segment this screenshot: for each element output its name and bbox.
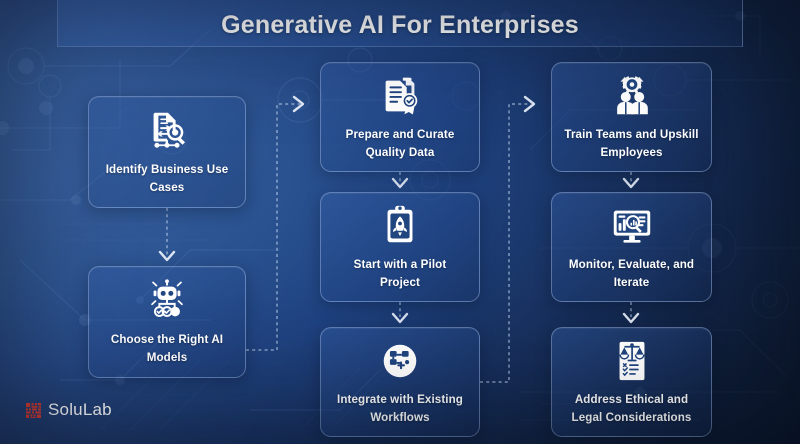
brand-logo[interactable]: SoluLab [26,400,112,420]
connector-c6-to-c7 [624,172,638,187]
flow-card-label: Choose the Right AI Models [89,331,245,367]
flow-card-prepare-and-curate-quality-data[interactable]: Prepare and Curate Quality Data [320,62,480,172]
page-title: Generative AI For Enterprises [0,11,800,40]
flow-card-label: Start with a Pilot Project [321,256,479,292]
monitor-analytics-magnifier-icon [609,203,655,249]
robot-ai-icon [144,278,190,324]
flow-card-start-with-a-pilot-project[interactable]: Start with a Pilot Project [320,192,480,302]
team-gear-uparrow-icon [609,73,655,119]
flow-card-train-teams-and-upskill-employees[interactable]: Train Teams and Upskill Employees [551,62,712,172]
connector-c5-to-c6 [480,97,534,382]
flow-card-label: Prepare and Curate Quality Data [321,126,479,162]
flow-card-integrate-with-existing-workflows[interactable]: Integrate with Existing Workflows [320,327,480,437]
scales-document-icon [609,338,655,384]
connector-c1-to-c2 [160,208,174,260]
flow-card-label: Address Ethical and Legal Considerations [552,391,711,427]
connector-c7-to-c8 [624,302,638,322]
flow-card-address-ethical-and-legal-considerations[interactable]: Address Ethical and Legal Considerations [551,327,712,437]
flow-card-label: Integrate with Existing Workflows [321,391,479,427]
flow-card-label: Train Teams and Upskill Employees [552,126,711,162]
connector-c4-to-c5 [393,302,407,322]
connector-c3-to-c4 [393,172,407,187]
flow-card-label: Identify Business Use Cases [89,161,245,197]
clipboard-rocket-icon [377,203,423,249]
flow-card-identify-business-use-cases[interactable]: Identify Business Use Cases [88,96,246,208]
infographic-canvas: Generative AI For Enterprises .w{stroke:… [0,0,800,444]
workflow-nodes-icon [377,338,423,384]
flow-card-monitor-evaluate-and-iterate[interactable]: Monitor, Evaluate, and Iterate [551,192,712,302]
flow-card-label: Monitor, Evaluate, and Iterate [552,256,711,292]
document-magnifier-icon [144,108,190,154]
flow-card-choose-the-right-ai-models[interactable]: Choose the Right AI Models [88,266,246,378]
documents-certificate-icon [377,73,423,119]
solulab-pixel-logo-icon [26,403,41,418]
brand-name: SoluLab [48,400,112,420]
connector-c2-to-c3 [246,97,303,350]
